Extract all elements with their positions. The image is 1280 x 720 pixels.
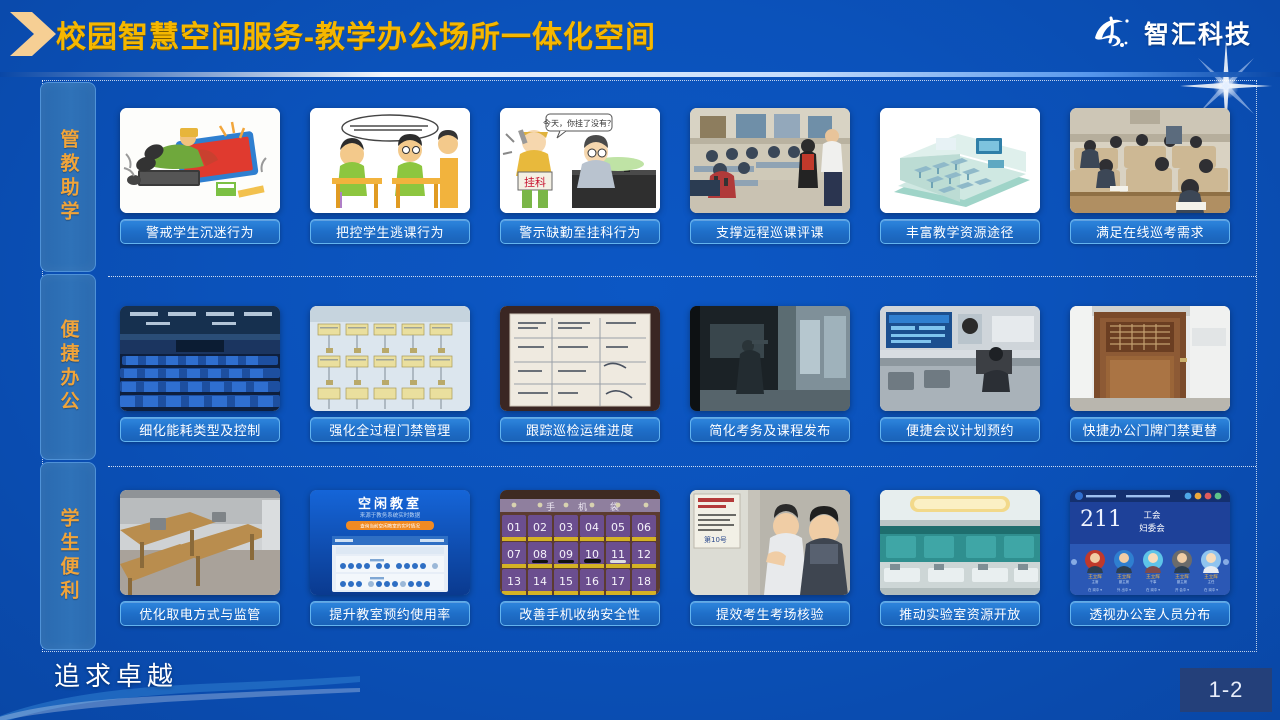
page-title: 校园智慧空间服务-教学办公场所一体化空间 (56, 12, 656, 56)
brand-logo: 智汇科技 (1089, 12, 1252, 54)
svg-text:王立辉: 王立辉 (1146, 573, 1160, 580)
row-divider-1 (108, 276, 1256, 277)
card-caption: 丰富教学资源途径 (880, 219, 1040, 244)
svg-text:机: 机 (578, 501, 587, 513)
svg-text:副主席: 副主席 (1177, 579, 1188, 584)
svg-text:第10号: 第10号 (704, 535, 727, 544)
svg-text:18: 18 (637, 575, 651, 588)
card-item[interactable]: 丰富教学资源途径 (880, 108, 1040, 248)
card-caption: 推动实验室资源开放 (880, 601, 1040, 626)
card-item[interactable]: 警戒学生沉迷行为 (120, 108, 280, 248)
card-item[interactable]: 支撑远程巡课评课 (690, 108, 850, 248)
zhihui-logo-icon (1089, 12, 1135, 54)
card-caption: 改善手机收纳安全性 (500, 601, 660, 626)
card-row-xueshengbianli: 优化取电方式与监管 空闲教室 来源于教务系统实时数据 查询当前空闲教室的实时情况 (120, 490, 1260, 630)
card-caption: 把控学生逃课行为 (310, 219, 470, 244)
page-header: 校园智慧空间服务-教学办公场所一体化空间 智汇科技 (0, 0, 1280, 68)
screen-office-211-staff-board-thumbnail: 211 工会 妇委会 王立辉王立辉王立辉 (1070, 490, 1230, 595)
brand-name: 智汇科技 (1144, 15, 1252, 51)
card-caption: 警示缺勤至挂科行为 (500, 219, 660, 244)
card-row-bianjiebangong: 细化能耗类型及控制 (120, 306, 1260, 446)
svg-text:妇委会: 妇委会 (1139, 523, 1165, 534)
svg-text:04: 04 (585, 521, 599, 534)
svg-text:12: 12 (637, 548, 651, 561)
card-caption: 警戒学生沉迷行为 (120, 219, 280, 244)
svg-text:16: 16 (585, 575, 599, 588)
sidebar-item-label: 学生便利 (55, 508, 82, 604)
render-smart-classroom-3d-thumbnail (880, 108, 1040, 213)
card-caption: 提效考生考场核验 (690, 601, 850, 626)
svg-text:06: 06 (637, 521, 651, 534)
svg-text:来源于教务系统实时数据: 来源于教务系统实时数据 (360, 511, 421, 519)
svg-text:挂科: 挂科 (524, 175, 546, 189)
category-sidebar: 管教助学 便捷办公 学生便利 (40, 82, 96, 650)
svg-text:13: 13 (507, 575, 521, 588)
photo-lecture-hall-exam-thumbnail (1070, 108, 1230, 213)
photo-computer-lab-room-thumbnail (880, 490, 1040, 595)
card-item[interactable]: 把控学生逃课行为 (310, 108, 470, 248)
svg-text:查询当前空闲教室的实时情况: 查询当前空闲教室的实时情况 (360, 523, 420, 530)
card-item[interactable]: 便捷会议计划预约 (880, 306, 1040, 446)
svg-text:01: 01 (507, 521, 521, 534)
card-caption: 强化全过程门禁管理 (310, 417, 470, 442)
svg-text:05: 05 (611, 521, 625, 534)
card-caption: 提升教室预约使用率 (310, 601, 470, 626)
footer-slogan: 追求卓越 (54, 656, 178, 693)
card-caption: 透视办公室人员分布 (1070, 601, 1230, 626)
card-item[interactable]: 优化取电方式与监管 (120, 490, 280, 630)
svg-text:干事: 干事 (1150, 579, 1157, 584)
card-caption: 支撑远程巡课评课 (690, 219, 850, 244)
card-item[interactable]: 跟踪巡检运维进度 (500, 306, 660, 446)
card-caption: 跟踪巡检运维进度 (500, 417, 660, 442)
card-item[interactable]: 推动实验室资源开放 (880, 490, 1040, 630)
card-item[interactable]: 空闲教室 来源于教务系统实时数据 查询当前空闲教室的实时情况 (310, 490, 470, 630)
svg-text:工会: 工会 (1143, 510, 1161, 521)
sidebar-item-xueshengbianli[interactable]: 学生便利 (40, 462, 96, 650)
svg-text:11: 11 (611, 548, 625, 561)
page-number-badge: 1-2 (1180, 668, 1272, 712)
svg-text:主任: 主任 (1208, 579, 1215, 584)
cartoon-failing-exam-thumbnail: 今天，你挂了没有？ 挂科 (500, 108, 660, 213)
row-divider-2 (108, 466, 1256, 467)
svg-text:在 岗中 ▾: 在 岗中 ▾ (1088, 587, 1102, 592)
card-row-guanjiaozhuxue: 警戒学生沉迷行为 (120, 108, 1260, 248)
card-item[interactable]: 简化考务及课程发布 (690, 306, 850, 446)
svg-text:开 会中 ▾: 开 会中 ▾ (1175, 587, 1189, 592)
photo-meeting-room-booking-screen-thumbnail (880, 306, 1040, 411)
card-item[interactable]: 强化全过程门禁管理 (310, 306, 470, 446)
photo-classroom-teacher-inspection-thumbnail (690, 108, 850, 213)
svg-text:14: 14 (533, 575, 547, 588)
card-caption: 快捷办公门牌门禁更替 (1070, 417, 1230, 442)
screen-idle-classroom-app-thumbnail: 空闲教室 来源于教务系统实时数据 查询当前空闲教室的实时情况 (310, 490, 470, 595)
photo-inspection-logbook-thumbnail (500, 306, 660, 411)
svg-text:主席: 主席 (1092, 579, 1099, 584)
svg-text:17: 17 (611, 575, 625, 588)
svg-text:在 岗中 ▾: 在 岗中 ▾ (1146, 587, 1160, 592)
header-underline (0, 72, 1280, 77)
card-item[interactable]: 手 机 袋 (500, 490, 660, 630)
photo-exam-checkin-students-thumbnail: 第10号 (690, 490, 850, 595)
card-item[interactable]: 满足在线巡考需求 (1070, 108, 1230, 248)
photo-office-door-nameplate-thumbnail (1070, 306, 1230, 411)
svg-text:03: 03 (559, 521, 573, 534)
card-item[interactable]: 第10号 提效考生考场核验 (690, 490, 850, 630)
svg-text:空闲教室: 空闲教室 (358, 496, 422, 512)
card-caption: 细化能耗类型及控制 (120, 417, 280, 442)
card-item[interactable]: 细化能耗类型及控制 (120, 306, 280, 446)
svg-text:今天，你挂了没有？: 今天，你挂了没有？ (543, 118, 615, 128)
chevron-right-icon (8, 10, 60, 58)
cartoon-students-skipping-class-thumbnail (310, 108, 470, 213)
svg-text:王立辉: 王立辉 (1204, 573, 1218, 580)
svg-text:外 出中 ▾: 外 出中 ▾ (1117, 587, 1131, 592)
photo-person-at-wall-display-thumbnail (690, 306, 850, 411)
svg-text:王立辉: 王立辉 (1175, 573, 1189, 580)
sidebar-item-label: 管教助学 (55, 129, 82, 225)
svg-text:在 岗中 ▾: 在 岗中 ▾ (1204, 587, 1218, 592)
svg-text:211: 211 (1080, 507, 1122, 532)
svg-text:09: 09 (559, 548, 573, 561)
card-item[interactable]: 快捷办公门牌门禁更替 (1070, 306, 1230, 446)
svg-text:02: 02 (533, 521, 547, 534)
card-item[interactable]: 今天，你挂了没有？ 挂科 警示缺勤至挂科行为 (500, 108, 660, 248)
svg-text:副主席: 副主席 (1119, 579, 1130, 584)
card-caption: 优化取电方式与监管 (120, 601, 280, 626)
photo-classroom-desks-power-thumbnail (120, 490, 280, 595)
photo-key-cabinet-board-thumbnail (310, 306, 470, 411)
svg-text:手: 手 (546, 501, 555, 513)
svg-text:07: 07 (507, 548, 521, 561)
card-caption: 满足在线巡考需求 (1070, 219, 1230, 244)
svg-text:王立辉: 王立辉 (1088, 573, 1102, 580)
sidebar-item-label: 便捷办公 (55, 319, 82, 415)
sidebar-item-guanjiaozhuxue[interactable]: 管教助学 (40, 82, 96, 272)
photo-phone-storage-cabinet-thumbnail: 手 机 袋 (500, 490, 660, 595)
svg-text:15: 15 (559, 575, 573, 588)
svg-text:王立辉: 王立辉 (1117, 573, 1131, 580)
card-caption: 便捷会议计划预约 (880, 417, 1040, 442)
photo-auditorium-blue-seats-thumbnail (120, 306, 280, 411)
cartoon-student-addicted-phone-thumbnail (120, 108, 280, 213)
card-item[interactable]: 211 工会 妇委会 王立辉王立辉王立辉 (1070, 490, 1230, 630)
card-caption: 简化考务及课程发布 (690, 417, 850, 442)
sidebar-item-bianjiebangong[interactable]: 便捷办公 (40, 274, 96, 460)
svg-text:08: 08 (533, 548, 547, 561)
